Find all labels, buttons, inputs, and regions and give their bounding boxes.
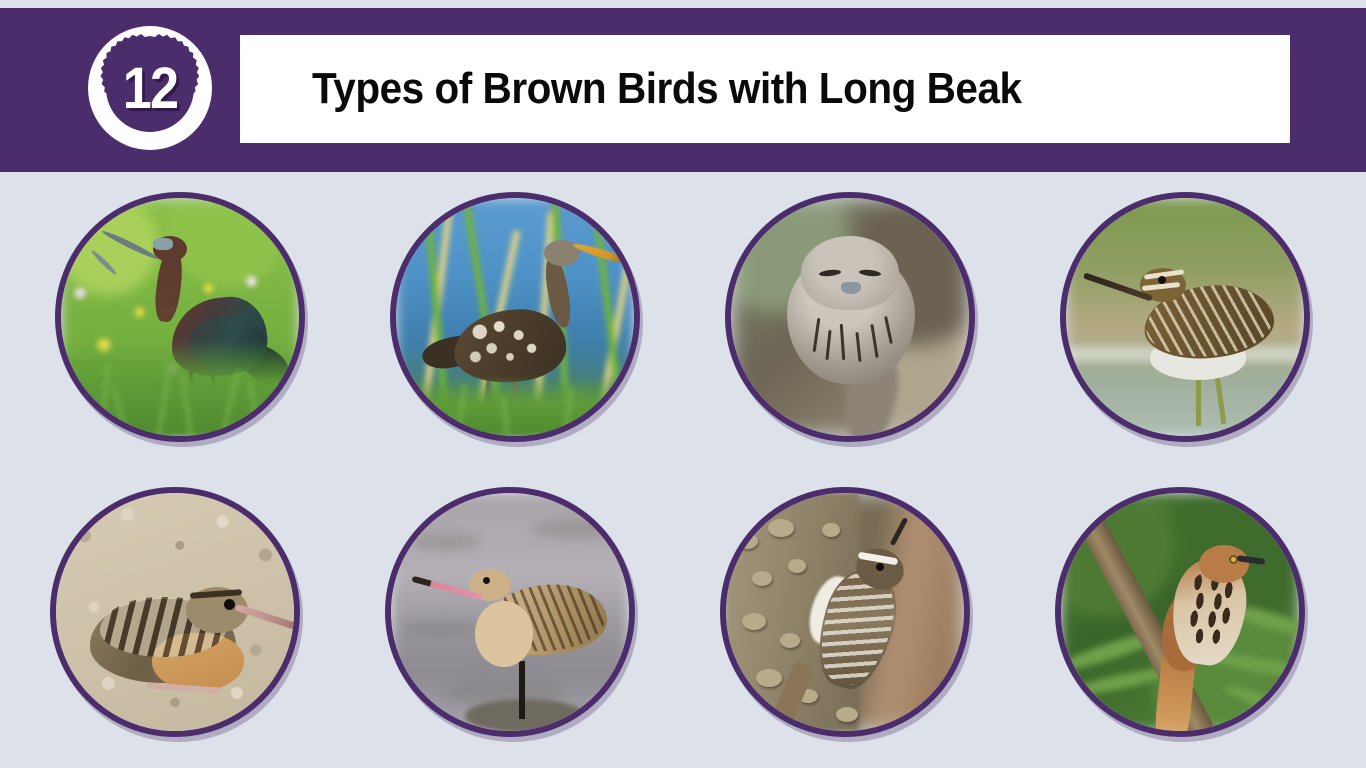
bird-gallery (0, 172, 1366, 768)
bird-photo-tawny-frogmouth (731, 198, 969, 436)
bird-photo-marbled-godwit (391, 493, 629, 731)
count-badge: 12 (88, 26, 212, 150)
frogmouth-plumage-streaks (731, 198, 969, 436)
gallery-item-brown-creeper[interactable] (720, 487, 970, 737)
woodcock-eye (224, 599, 235, 610)
bird-photo-brown-creeper (726, 493, 964, 731)
frogmouth-beak (841, 282, 861, 294)
gallery-item-brown-thrasher[interactable] (1055, 487, 1305, 737)
bird-photo-brown-thrasher (1061, 493, 1299, 731)
gallery-item-common-snipe[interactable] (1060, 192, 1310, 442)
infographic-page: Types of Brown Birds with Long Beak 12 (0, 0, 1366, 768)
gallery-item-american-woodcock[interactable] (50, 487, 300, 737)
bird-circle (720, 487, 970, 737)
foreground-grass (396, 376, 634, 436)
bird-photo-american-woodcock (56, 493, 294, 731)
creeper-eye (876, 563, 884, 571)
gallery-item-marbled-godwit[interactable] (385, 487, 635, 737)
godwit-breast (475, 601, 533, 667)
bird-circle (390, 192, 640, 442)
snipe-leg (1196, 374, 1201, 426)
ibis-face-patch (153, 238, 173, 250)
gallery-item-tawny-frogmouth[interactable] (725, 192, 975, 442)
bird-circle (50, 487, 300, 737)
limpkin-spots (456, 312, 564, 378)
godwit-leg (519, 661, 525, 719)
bird-circle (55, 192, 305, 442)
bird-photo-glossy-ibis (61, 198, 299, 436)
thrasher-head (1199, 545, 1249, 583)
bird-circle (725, 192, 975, 442)
bird-circle (1060, 192, 1310, 442)
mud-mound (465, 699, 585, 731)
gallery-item-glossy-ibis[interactable] (55, 192, 305, 442)
title-box: Types of Brown Birds with Long Beak (240, 35, 1290, 143)
page-title: Types of Brown Birds with Long Beak (312, 64, 1022, 114)
bird-photo-common-snipe (1066, 198, 1304, 436)
bird-photo-limpkin (396, 198, 634, 436)
badge-number: 12 (94, 26, 206, 150)
frogmouth-head (801, 236, 899, 310)
bird-circle (1055, 487, 1305, 737)
gallery-item-limpkin[interactable] (390, 192, 640, 442)
bird-circle (385, 487, 635, 737)
snipe-eye (1158, 276, 1166, 284)
foreground-grass (61, 340, 299, 436)
godwit-eye (483, 577, 490, 584)
